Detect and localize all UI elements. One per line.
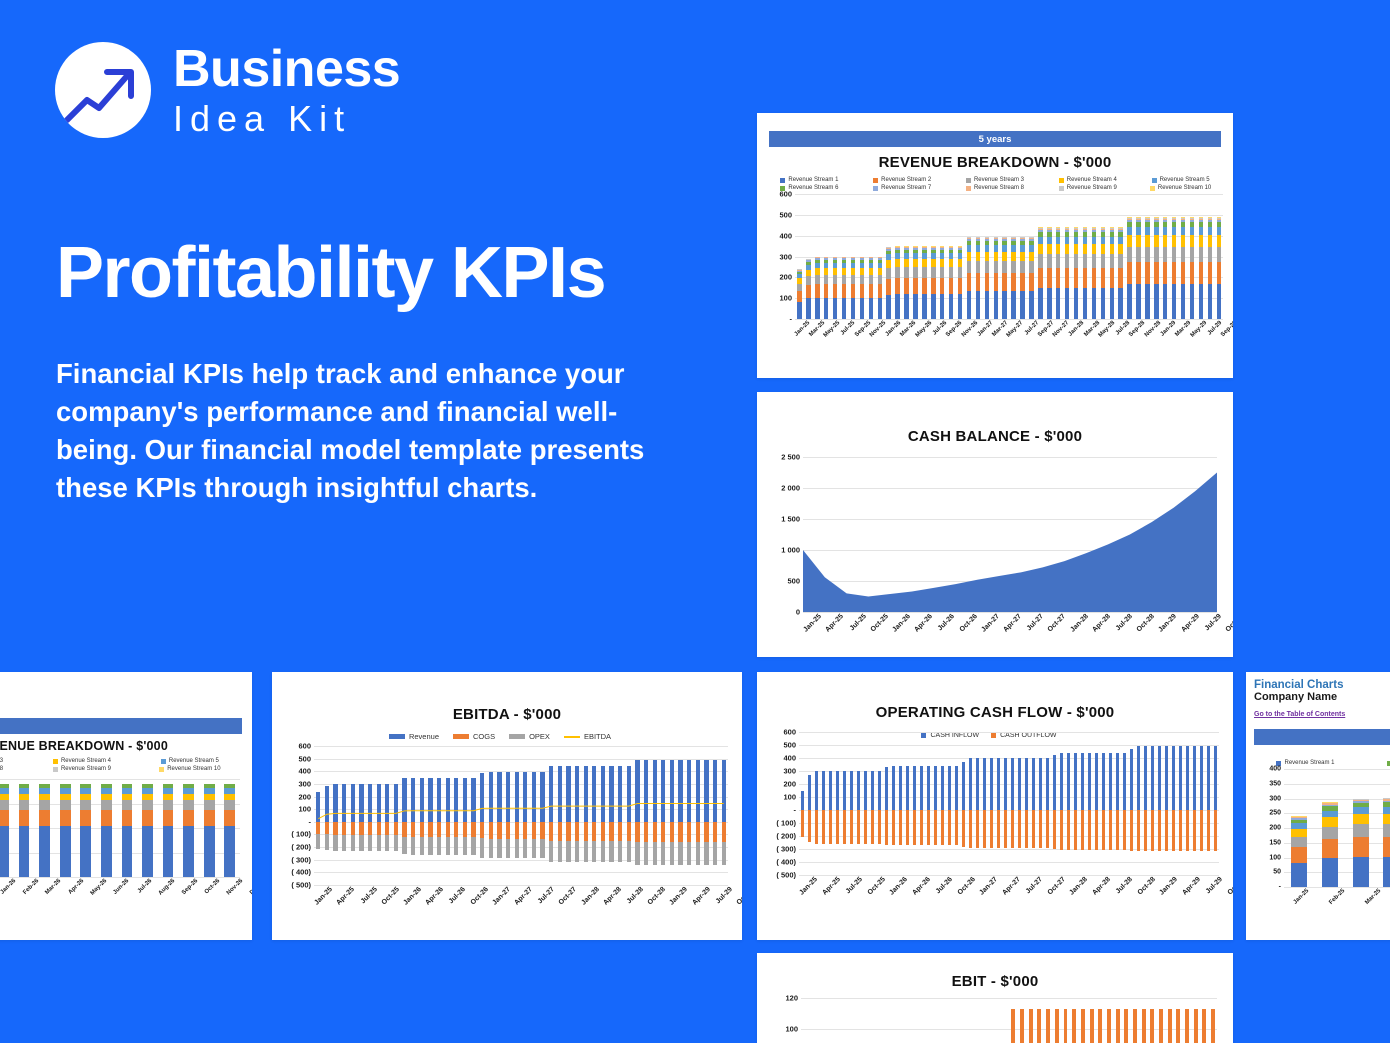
x-axis-slot: May-27 [1013, 319, 1028, 359]
cash-outflow-bar [1046, 810, 1050, 848]
ebit-bar [1107, 1009, 1111, 1043]
cash-inflow-bar [899, 766, 903, 810]
legend-item: Revenue Stream 3 [0, 758, 28, 764]
cash-outflow-bar [815, 810, 819, 844]
bar-slot [810, 998, 819, 1043]
slide-canvas: Business Idea Kit Profitability KPIs Fin… [0, 0, 1390, 1043]
bar-slot [855, 732, 862, 875]
bar-segment [1383, 857, 1390, 887]
bar-slot [1148, 998, 1157, 1043]
stacked-bar [886, 247, 890, 319]
stacked-bar [904, 246, 908, 319]
x-axis-slot: Jul-27 [540, 885, 562, 925]
bar-slot [1107, 194, 1116, 319]
bar-slot [922, 998, 931, 1043]
y-axis-tick: 100 [1269, 854, 1281, 861]
bar-segment [1136, 284, 1140, 319]
bar-segment [224, 810, 235, 826]
bar-slot [953, 732, 960, 875]
bar-slot [960, 732, 967, 875]
x-axis-slot: Jan-26 [893, 875, 916, 915]
legend-item: Revenue Stream 4 [28, 758, 136, 764]
cash-inflow-bar [927, 766, 931, 810]
bar-segment [886, 295, 890, 319]
y-axis-tick: 1 000 [781, 546, 800, 555]
x-axis-tick-label: Jul-28 [1115, 876, 1134, 895]
stacked-bar [1181, 217, 1185, 319]
bar-slot [844, 998, 853, 1043]
legend-label: Revenue Stream 9 [1067, 185, 1117, 191]
bar-slot [1002, 732, 1009, 875]
y-axis-tick: 0 [796, 608, 800, 617]
bar-series [801, 998, 1217, 1043]
period-band-24-months: 24 months [0, 718, 242, 734]
bar-segment [1353, 814, 1369, 824]
y-axis-tick: ( 500) [291, 881, 311, 890]
stacked-bar [163, 784, 174, 877]
bar-segment [1074, 268, 1078, 288]
cash-outflow-bar [983, 810, 987, 848]
stacked-bar [878, 257, 882, 320]
bar-segment [1208, 262, 1212, 284]
bar-segment [1038, 268, 1042, 288]
ebit-bar [1159, 1009, 1163, 1043]
bar-segment [1199, 247, 1203, 262]
bar-segment [80, 810, 91, 826]
bar-segment [1038, 288, 1042, 319]
ebitda-line-series [314, 746, 728, 885]
bar-segment [1101, 254, 1105, 268]
bar-segment [985, 291, 989, 319]
bar-slot [904, 732, 911, 875]
bar-segment [224, 800, 235, 809]
bar-segment [1118, 268, 1122, 288]
bar-segment [1118, 254, 1122, 268]
bar-slot [1114, 732, 1121, 875]
bar-slot [939, 732, 946, 875]
stacked-bar [931, 246, 935, 319]
bar-segment [1101, 244, 1105, 254]
bar-slot [862, 998, 871, 1043]
cash-outflow-bar [1172, 810, 1176, 851]
legend-label: Revenue Stream 10 [167, 766, 220, 772]
bar-slot [840, 194, 849, 319]
x-axis-slot: Jan-25 [318, 885, 340, 925]
cash-inflow-bar [1193, 746, 1197, 810]
x-axis-slot: Nov-25 [875, 319, 890, 359]
bar-slot [1179, 194, 1188, 319]
bar-segment [985, 252, 989, 261]
y-axis-tick: 300 [1269, 795, 1281, 802]
x-axis-slot: Jul-27 [1028, 319, 1043, 359]
bar-segment [1154, 247, 1158, 262]
bar-slot [827, 732, 834, 875]
y-axis: 600500400300200100-( 100)( 200)( 300)( 4… [765, 732, 799, 875]
bar-segment [1136, 262, 1140, 284]
brand-name-primary: Business [173, 43, 400, 95]
x-axis-slot: Oct-27 [562, 885, 584, 925]
stacked-bar [60, 784, 71, 877]
x-axis-tick-label: Jan-25 [793, 320, 811, 338]
stacked-bar [1291, 816, 1307, 887]
bar-segment [1199, 235, 1203, 246]
stacked-bar [1353, 799, 1369, 888]
bar-slot [827, 998, 836, 1043]
x-axis-slot: Apr-27 [1006, 875, 1029, 915]
bar-slot [1183, 998, 1192, 1043]
legend-label: EBITDA [584, 732, 611, 741]
table-of-contents-link[interactable]: Go to the Table of Contents [1254, 711, 1345, 718]
x-axis-slot: Jan-25 [803, 875, 826, 915]
stacked-bar [224, 784, 235, 877]
y-axis-tick: ( 200) [291, 843, 311, 852]
bar-segment [1181, 247, 1185, 262]
bar-slot [866, 194, 875, 319]
bar-segment [1217, 284, 1221, 319]
cash-outflow-bar [1144, 810, 1148, 851]
bar-slot [965, 194, 974, 319]
bar-segment [1056, 237, 1060, 244]
stacked-bar [967, 237, 971, 319]
bar-segment [1002, 261, 1006, 273]
cash-inflow-bar [1179, 746, 1183, 810]
legend-swatch [53, 759, 58, 764]
bar-segment [1163, 284, 1167, 319]
bar-segment [994, 252, 998, 261]
bar-segment [1065, 288, 1069, 319]
x-axis-slot: Apr-28 [1096, 612, 1118, 652]
stacked-bar [1383, 798, 1390, 887]
chart-card-operating-cash-flow[interactable]: OPERATING CASH FLOW - $'000 CASH INFLOWC… [757, 672, 1233, 940]
bar-segment [1020, 245, 1024, 252]
stacked-bar [1163, 217, 1167, 319]
bar-segment [1020, 291, 1024, 319]
bar-segment [1190, 262, 1194, 284]
cash-outflow-bar [934, 810, 938, 845]
bar-segment [1074, 288, 1078, 319]
bar-segment [1353, 857, 1369, 887]
bar-segment [976, 273, 980, 291]
bar-segment [1083, 244, 1087, 254]
chart-card-cash-balance[interactable]: CASH BALANCE - $'000 2 5002 0001 5001 00… [757, 392, 1233, 657]
cash-inflow-bar [1151, 746, 1155, 810]
x-axis-slot: Oct-29 [1229, 612, 1233, 652]
chart-legend-revenue-breakdown-5y: Revenue Stream 1Revenue Stream 2Revenue … [757, 176, 1233, 192]
legend-label: Revenue Stream 6 [788, 185, 838, 191]
cash-outflow-bar [906, 810, 910, 845]
legend-label: Revenue Stream 2 [881, 177, 931, 183]
legend-label: Revenue Stream 10 [1158, 185, 1211, 191]
bar-segment [1353, 807, 1369, 814]
bar-segment [19, 800, 30, 809]
bar-slot [75, 779, 96, 877]
x-axis-tick-label: Aug-26 [157, 878, 176, 897]
stacked-bar [1154, 217, 1158, 319]
bar-segment [1322, 858, 1338, 887]
y-axis-tick: 2 500 [781, 453, 800, 462]
cash-outflow-bar [1186, 810, 1190, 851]
bar-segment [842, 298, 846, 319]
bar-slot [995, 732, 1002, 875]
bar-segment [895, 259, 899, 267]
bar-slot [34, 779, 55, 877]
bar-slot [1086, 732, 1093, 875]
cash-inflow-bar [822, 771, 826, 810]
bar-segment [1110, 237, 1114, 244]
bar-segment [1083, 237, 1087, 244]
bar-slot [1139, 998, 1148, 1043]
bar-segment [1145, 227, 1149, 235]
bar-slot [799, 732, 806, 875]
bar-slot [1009, 194, 1018, 319]
y-axis-tick: 600 [298, 742, 311, 751]
cash-outflow-bar [822, 810, 826, 844]
chart-card-financial-charts-panel[interactable]: Financial Charts Company Name Go to the … [1246, 672, 1390, 940]
cash-inflow-bar [990, 758, 994, 810]
bar-slot [932, 732, 939, 875]
x-axis-slot: Jan-25 [799, 319, 814, 359]
x-axis-operating-cash-flow: Jan-25Apr-25Jul-25Oct-25Jan-26Apr-26Jul-… [803, 875, 1233, 915]
bar-segment [163, 826, 174, 877]
ebit-bar [1176, 1009, 1180, 1043]
cash-inflow-bar [1074, 753, 1078, 810]
bar-slot [1174, 998, 1183, 1043]
bar-slot [992, 998, 1001, 1043]
y-axis-tick: 500 [783, 741, 796, 750]
cash-outflow-bar [969, 810, 973, 848]
x-axis-slot: Jan-28 [584, 885, 606, 925]
stacked-bar [940, 246, 944, 319]
x-axis-slot: Oct-28 [1140, 612, 1162, 652]
bar-slot [1191, 998, 1200, 1043]
legend-label: OPEX [529, 732, 550, 741]
bar-slot [890, 732, 897, 875]
cash-outflow-bar [1081, 810, 1085, 850]
bar-segment [1136, 247, 1140, 262]
bar-slot [1116, 194, 1125, 319]
bar-slot [879, 998, 888, 1043]
x-axis-tick-label: Jul-29 [1203, 613, 1222, 632]
chart-card-revenue-breakdown-24m[interactable]: 24 months REVENUE BREAKDOWN - $'000 Reve… [0, 672, 252, 940]
bar-slot [938, 194, 947, 319]
legend-label: Revenue Stream 7 [881, 185, 931, 191]
bar-slot [893, 194, 902, 319]
bar-slot [1026, 998, 1035, 1043]
cash-outflow-bar [976, 810, 980, 848]
cash-outflow-bar [899, 810, 903, 845]
cash-outflow-bar [1074, 810, 1078, 850]
bar-slot [1143, 194, 1152, 319]
bar-segment [1353, 824, 1369, 837]
chart-card-revenue-breakdown-5y[interactable]: 5 years REVENUE BREAKDOWN - $'000 Revenu… [757, 113, 1233, 378]
legend-item: Revenue Stream 6 [1361, 760, 1390, 766]
x-axis-slot: Jan-29 [1165, 319, 1180, 359]
cash-outflow-bar [1165, 810, 1169, 851]
cash-outflow-bar [885, 810, 889, 845]
bar-segment [967, 261, 971, 273]
bar-segment [1092, 254, 1096, 268]
x-axis-slot: Jan-26 [891, 319, 906, 359]
bar-slot [1196, 194, 1205, 319]
bar-slot [795, 194, 804, 319]
bar-segment [1002, 291, 1006, 319]
y-axis-tick: 400 [298, 767, 311, 776]
bar-slot [1009, 998, 1018, 1043]
x-axis-slot: Oct-25 [385, 885, 407, 925]
bar-slot [981, 732, 988, 875]
bar-segment [967, 245, 971, 252]
bar-slot [96, 779, 117, 877]
x-axis-revenue-breakdown-5y: Jan-25Mar-25May-25Jul-25Sep-25Nov-25Jan-… [799, 319, 1233, 359]
bar-segment [985, 245, 989, 252]
cash-inflow-bar [1165, 746, 1169, 810]
x-axis-tick-label: Jul-27 [537, 886, 556, 905]
chart-card-ebit[interactable]: EBIT - $'000 12010080 [757, 953, 1233, 1043]
x-axis-slot: Jan-28 [1074, 319, 1089, 359]
bar-segment [1065, 244, 1069, 254]
cash-inflow-bar [1095, 753, 1099, 810]
cash-inflow-bar [1158, 746, 1162, 810]
y-axis-tick: 200 [1269, 825, 1281, 832]
ebit-bar [1168, 1009, 1172, 1043]
x-axis-slot: Jun-26 [115, 877, 138, 917]
cash-outflow-bar [1179, 810, 1183, 851]
bar-segment [904, 259, 908, 267]
bar-slot [1000, 998, 1009, 1043]
bar-slot [1156, 732, 1163, 875]
bar-slot [1200, 998, 1209, 1043]
x-axis-slot: Apr-25 [340, 885, 362, 925]
bar-segment [1322, 817, 1338, 826]
x-axis-slot: Nov-26 [229, 877, 252, 917]
stacked-bar [913, 246, 917, 319]
legend-label: Revenue Stream 4 [1067, 177, 1117, 183]
stacked-bar [1011, 237, 1015, 319]
cash-inflow-bar [1123, 753, 1127, 810]
cash-inflow-bar [836, 771, 840, 810]
cash-outflow-bar [1207, 810, 1211, 851]
bar-segment [1145, 235, 1149, 246]
bar-slot [220, 779, 241, 877]
y-axis-tick: ( 300) [776, 845, 796, 854]
y-axis-tick: 300 [783, 767, 796, 776]
bar-segment [985, 273, 989, 291]
bar-slot [870, 998, 879, 1043]
ebit-bar [1081, 1009, 1085, 1043]
bar-segment [904, 267, 908, 278]
cash-inflow-bar [871, 771, 875, 810]
bar-slot [1107, 732, 1114, 875]
x-axis-slot: Apr-29 [695, 885, 717, 925]
bar-slot [1184, 732, 1191, 875]
bar-slot [1079, 732, 1086, 875]
bar-segment [842, 284, 846, 298]
x-axis-slot: Jul-29 [1207, 612, 1229, 652]
bar-segment [860, 284, 864, 298]
bar-slot [1098, 194, 1107, 319]
cash-inflow-bar [1109, 753, 1113, 810]
bar-segment [1047, 254, 1051, 268]
bar-segment [1101, 237, 1105, 244]
bar-segment [940, 259, 944, 267]
bar-slot [1315, 769, 1346, 887]
bar-slot [853, 998, 862, 1043]
bar-slot [1125, 194, 1134, 319]
y-axis-tick: ( 200) [776, 832, 796, 841]
bar-segment [976, 252, 980, 261]
bar-slot [1188, 194, 1197, 319]
x-axis-slot: Nov-28 [1150, 319, 1165, 359]
bar-segment [60, 810, 71, 826]
legend-item: Revenue Stream 1 [763, 177, 856, 183]
chart-card-ebitda[interactable]: EBITDA - $'000 RevenueCOGSOPEXEBITDA 600… [272, 672, 742, 940]
x-axis-slot: Jul-28 [1118, 875, 1141, 915]
x-axis-cash-balance: Jan-25Apr-25Jul-25Oct-25Jan-26Apr-26Jul-… [807, 612, 1233, 652]
y-axis-tick: 500 [787, 577, 800, 586]
y-axis-tick: 600 [783, 728, 796, 737]
bar-segment [1127, 227, 1131, 235]
stacked-bar [1065, 227, 1069, 319]
bar-slot [1087, 998, 1096, 1043]
bar-segment [1136, 227, 1140, 235]
bar-slot [1089, 194, 1098, 319]
bar-segment [1038, 237, 1042, 244]
x-axis-slot: May-25 [830, 319, 845, 359]
bar-segment [1118, 237, 1122, 244]
legend-label: Revenue Stream 3 [0, 758, 3, 764]
bar-segment [1074, 244, 1078, 254]
cash-outflow-bar [1018, 810, 1022, 848]
bar-segment [204, 826, 215, 877]
stacked-bar [142, 784, 153, 877]
legend-item: Revenue [389, 732, 439, 741]
stacked-bar [1217, 217, 1221, 319]
bar-segment [851, 268, 855, 275]
bar-segment [913, 278, 917, 294]
cash-outflow-bar [808, 810, 812, 842]
x-axis-slot: Oct-25 [874, 612, 896, 652]
x-axis-tick-label: Jul-29 [1205, 876, 1224, 895]
bar-slot [925, 732, 932, 875]
legend-swatch [159, 767, 164, 772]
x-axis-tick-label: May-26 [89, 878, 108, 897]
bar-segment [1065, 237, 1069, 244]
bar-segment [886, 268, 890, 279]
stacked-bar [985, 237, 989, 319]
legend-item: Revenue Stream 10 [136, 766, 244, 772]
y-axis-tick: 400 [1269, 766, 1281, 773]
y-axis-tick: 300 [779, 252, 792, 261]
bar-slot [929, 194, 938, 319]
y-axis-tick: 300 [298, 779, 311, 788]
bar-segment [860, 275, 864, 284]
cash-inflow-bar [1214, 746, 1218, 810]
bar-slot [876, 732, 883, 875]
x-axis-slot: Mar-26 [47, 877, 70, 917]
x-axis-slot: May-28 [1104, 319, 1119, 359]
stacked-bar [994, 237, 998, 319]
x-axis-slot: Jul-26 [138, 877, 161, 917]
bar-series [799, 732, 1219, 875]
bar-slot [1061, 998, 1070, 1043]
x-axis-slot: Nov-27 [1059, 319, 1074, 359]
bar-segment [1353, 837, 1369, 856]
bar-segment [922, 267, 926, 278]
bar-segment [824, 268, 828, 275]
stacked-bar [833, 257, 837, 320]
y-axis: 2 5002 0001 5001 0005000 [769, 457, 803, 612]
ebit-bar [1090, 1009, 1094, 1043]
